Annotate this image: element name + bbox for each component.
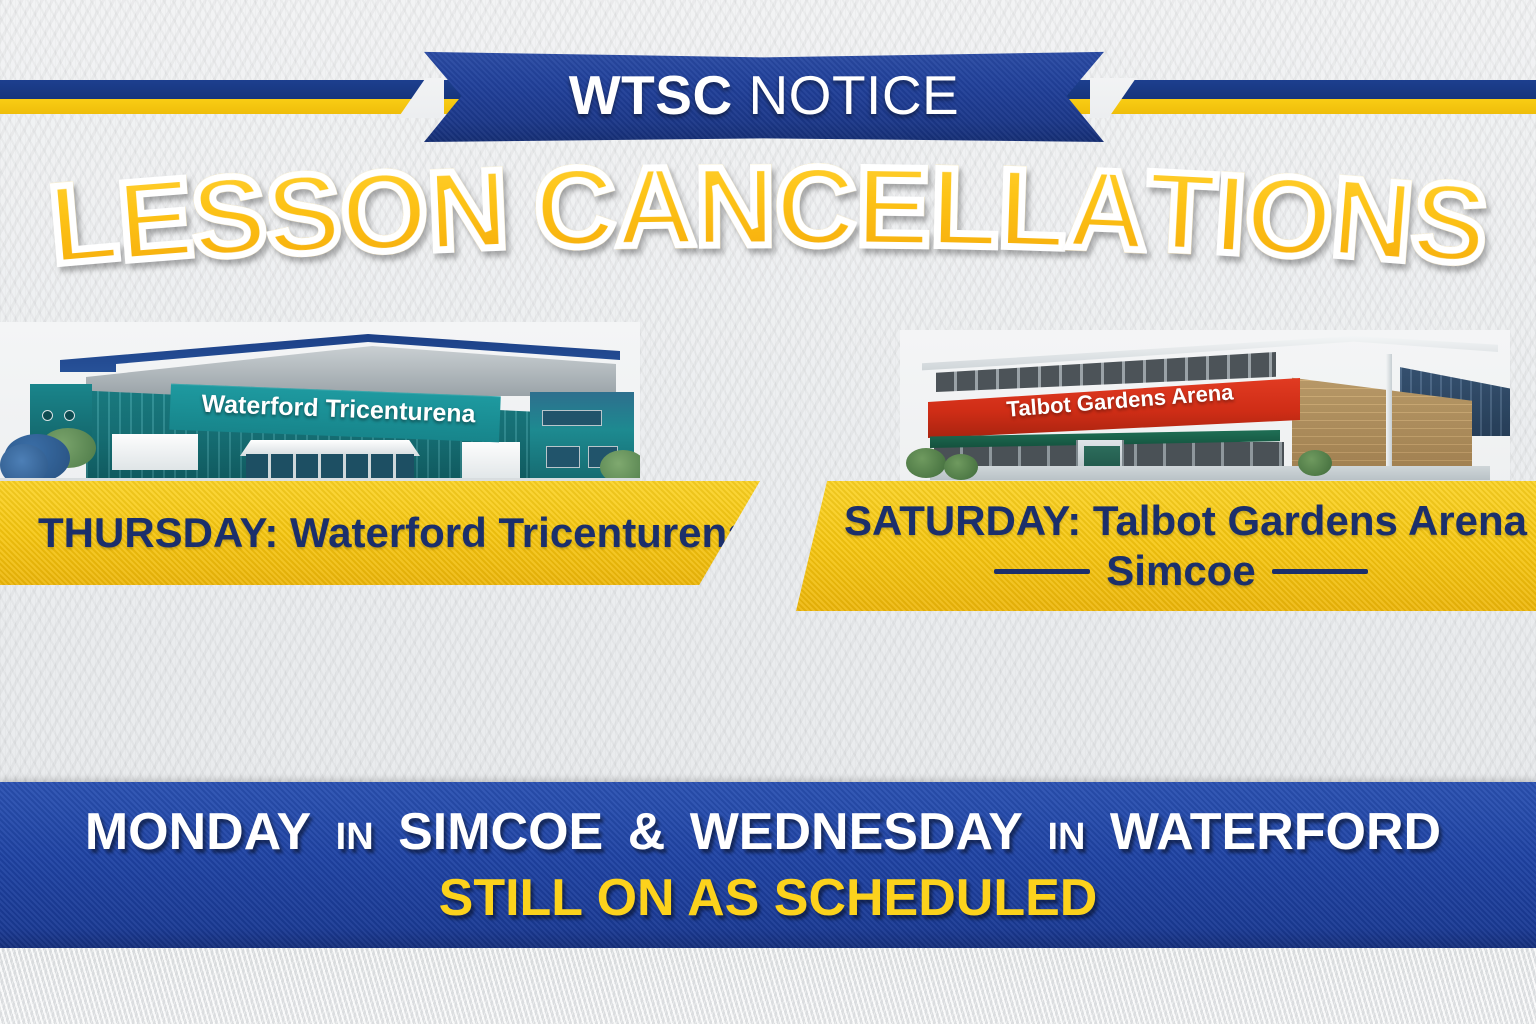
footer-ampersand: & <box>628 803 666 861</box>
title-char: N <box>424 144 509 276</box>
cancellation-day-label: SATURDAY: <box>844 497 1081 544</box>
cancellation-venue: Waterford Tricenturena <box>290 509 751 556</box>
title-char: A <box>614 142 696 272</box>
cancellation-banner-saturday: SATURDAY: Talbot Gardens Arena Simcoe <box>796 481 1536 611</box>
title-char: E <box>855 142 930 272</box>
footer-line-1: MONDAY IN SIMCOE & WEDNESDAY IN WATERFOR… <box>85 802 1451 862</box>
notice-light-text: NOTICE <box>748 64 959 126</box>
footer-day-monday: MONDAY <box>85 803 311 861</box>
divider-dash-left <box>994 569 1090 574</box>
footer-in-2: IN <box>1047 816 1085 858</box>
notice-bold-text: WTSC <box>569 64 733 126</box>
shrub-icon <box>944 454 978 480</box>
footer-day-wednesday: WEDNESDAY <box>690 803 1023 861</box>
footer-in-1: IN <box>336 816 374 858</box>
title-char: L <box>929 142 999 273</box>
title-char: S <box>262 148 343 281</box>
title-char: N <box>1327 152 1417 287</box>
white-wall-panel <box>462 442 520 482</box>
footer-city-waterford: WATERFORD <box>1110 803 1441 861</box>
title-char: C <box>533 142 616 273</box>
cancellation-banner-thursday-text: THURSDAY: Waterford Tricenturena <box>0 509 751 557</box>
footer-line-2: STILL ON AS SCHEDULED <box>439 868 1098 928</box>
shrub-icon <box>1298 450 1332 476</box>
notice-ribbon: WTSC NOTICE <box>424 50 1104 142</box>
cancellation-banner-saturday-text: SATURDAY: Talbot Gardens Arena <box>844 497 1518 545</box>
page-title: LESSONCANCELLATIONS <box>0 158 1536 287</box>
flag-mast <box>1386 354 1392 470</box>
bottom-texture-band <box>0 948 1536 1024</box>
porthole-window-icon <box>42 410 53 421</box>
cancellation-city: Simcoe <box>1106 547 1255 595</box>
title-char: L <box>44 156 122 290</box>
notice-ribbon-text: WTSC NOTICE <box>569 63 959 127</box>
porthole-window-icon <box>64 410 75 421</box>
title-char: N <box>695 142 775 271</box>
footer-panel: MONDAY IN SIMCOE & WEDNESDAY IN WATERFOR… <box>0 782 1536 948</box>
title-char: O <box>337 145 430 278</box>
window <box>542 410 602 426</box>
cancellation-city-row: Simcoe <box>844 547 1518 595</box>
arena-image-talbot: Talbot Gardens Arena <box>900 330 1510 492</box>
title-char: S <box>187 150 269 284</box>
window <box>546 446 580 468</box>
title-char: T <box>1144 146 1218 278</box>
footer-city-simcoe: SIMCOE <box>398 803 603 861</box>
white-wall-panel <box>112 434 198 470</box>
arena-image-waterford: Waterford Tricenturena <box>0 322 640 492</box>
title-char: C <box>775 142 855 271</box>
title-char: L <box>996 143 1068 274</box>
cancellation-day-label: THURSDAY: <box>38 509 278 556</box>
cancellation-banner-thursday: THURSDAY: Waterford Tricenturena <box>0 481 760 585</box>
divider-dash-right <box>1272 569 1368 574</box>
title-char: A <box>1064 144 1149 276</box>
title-char: O <box>1241 149 1336 284</box>
title-char: S <box>1407 155 1492 290</box>
shrub-icon <box>906 448 946 478</box>
title-char: E <box>113 152 197 286</box>
cancellation-venue: Talbot Gardens Arena <box>1093 497 1527 544</box>
poster-canvas: WTSC NOTICE LESSONCANCELLATIONS Waterfor… <box>0 0 1536 1024</box>
